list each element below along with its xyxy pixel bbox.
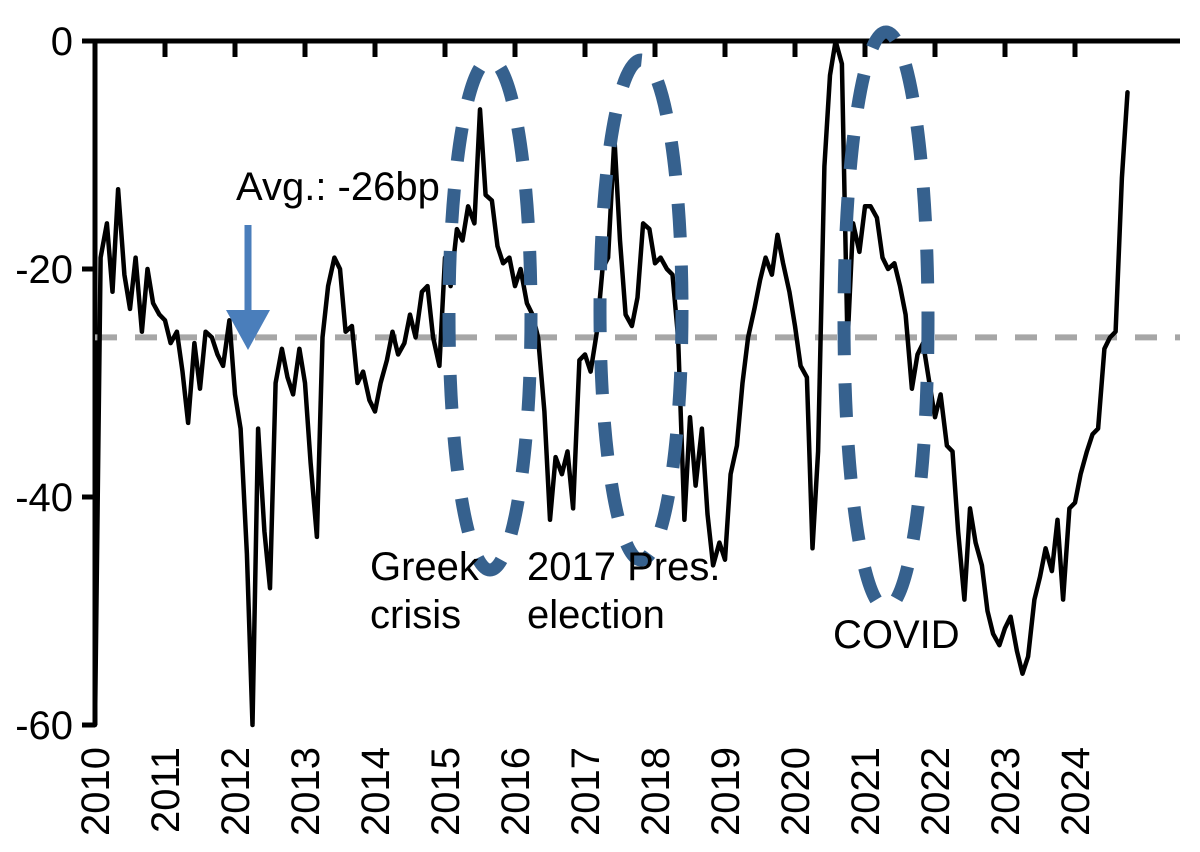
x-tick-label: 2019: [704, 747, 748, 836]
x-tick-label: 2020: [774, 747, 818, 836]
x-tick-label: 2014: [354, 747, 398, 836]
annotation-covid: COVID: [833, 613, 960, 657]
x-tick-label: 2013: [284, 747, 328, 836]
annotation-avg-label: Avg.: -26bp: [236, 165, 440, 209]
x-tick-label: 2018: [634, 747, 678, 836]
x-tick-label: 2024: [1054, 747, 1098, 836]
y-tick-label: -20: [15, 248, 73, 292]
x-tick-label: 2015: [424, 747, 468, 836]
chart-container: 0-20-40-60 20102011201220132014201520162…: [0, 0, 1200, 852]
y-tick-label: -40: [15, 476, 73, 520]
line-chart: 0-20-40-60 20102011201220132014201520162…: [0, 0, 1200, 852]
x-tick-label: 2023: [984, 747, 1028, 836]
x-tick-label: 2010: [74, 747, 118, 836]
y-tick-label: -60: [15, 704, 73, 748]
x-tick-label: 2016: [494, 747, 538, 836]
y-tick-label: 0: [51, 20, 73, 64]
x-tick-label: 2011: [144, 747, 188, 833]
x-tick-label: 2017: [564, 747, 608, 836]
x-tick-label: 2012: [214, 747, 258, 836]
x-tick-label: 2021: [844, 747, 888, 836]
x-axis-tick-labels: 2010201120122013201420152016201720182019…: [74, 747, 1098, 836]
x-tick-label: 2022: [914, 747, 958, 836]
